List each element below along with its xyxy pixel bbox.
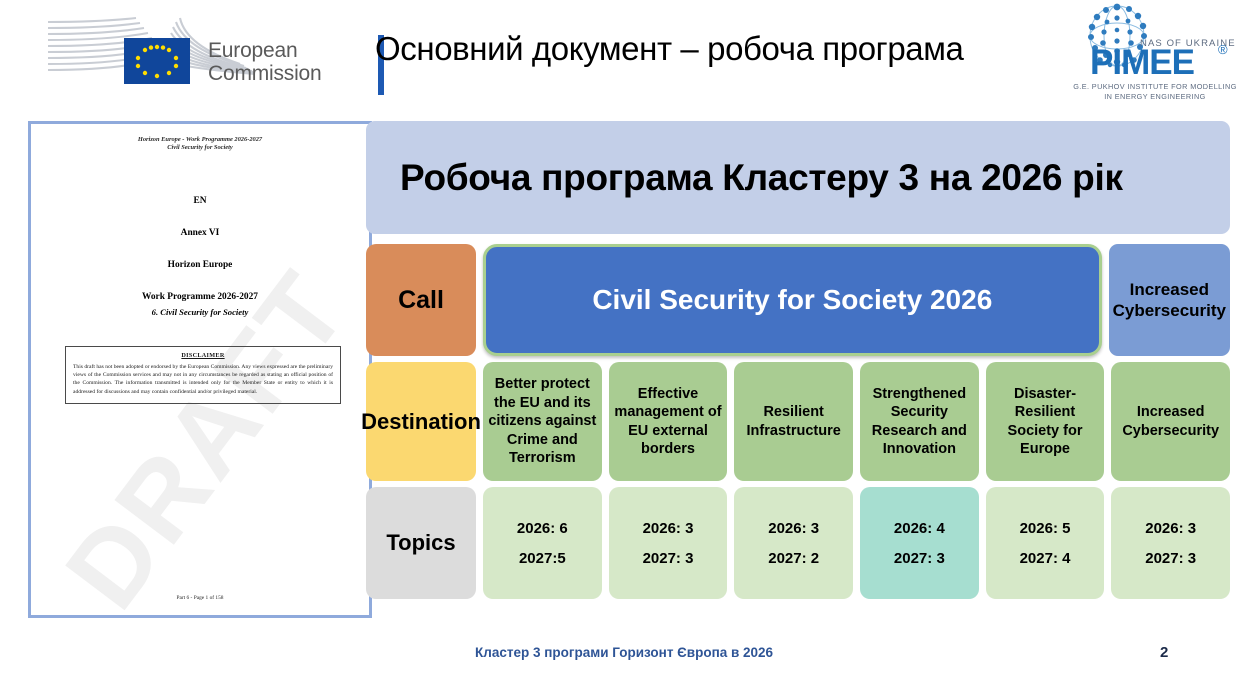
programme-structure-grid: Робоча програма Кластеру 3 на 2026 рік C… <box>366 121 1230 599</box>
slide-footer-text: Кластер 3 програми Горизонт Європа в 202… <box>475 645 773 660</box>
document-section-title: 6. Civil Security for Society <box>31 307 369 317</box>
topics-row-label-text: Topics <box>386 530 455 556</box>
destination-cell-1-text: Better protect the EU and its citizens a… <box>488 375 597 468</box>
call-row: Call Civil Security for Society 2026 Inc… <box>366 244 1230 356</box>
document-header-line2: Civil Security for Society <box>31 144 369 152</box>
destination-row-label: Destination <box>366 362 476 481</box>
grid-banner-text: Робоча програма Кластеру 3 на 2026 рік <box>400 157 1123 199</box>
topics-cell-1[interactable]: 2026: 6 2027:5 <box>483 487 602 599</box>
topics-cell-1-2027: 2027:5 <box>519 550 566 567</box>
pimee-registered-mark: ® <box>1218 42 1228 57</box>
topics-cell-2-2026: 2026: 3 <box>643 520 694 537</box>
topics-cell-4-2026: 2026: 4 <box>894 520 945 537</box>
document-title-block: EN Annex VI Horizon Europe Work Programm… <box>31 196 369 324</box>
destination-cell-6-text: Increased Cybersecurity <box>1116 403 1225 440</box>
call-row-label: Call <box>366 244 476 356</box>
disclaimer-title: DISCLAIMER <box>73 352 333 359</box>
slide-page-number: 2 <box>1160 644 1168 661</box>
document-disclaimer-box: DISCLAIMER This draft has not been adopt… <box>65 346 341 404</box>
call-extra-box[interactable]: Increased Cybersecurity <box>1109 244 1230 356</box>
destination-cell-2[interactable]: Effective management of EU external bord… <box>609 362 728 481</box>
destination-cell-3-text: Resilient Infrastructure <box>739 403 848 440</box>
topics-cell-4-2027: 2027: 3 <box>894 550 945 567</box>
european-commission-logo: European Commission <box>40 16 350 90</box>
eu-stars-icon <box>124 38 190 84</box>
topics-cell-1-2026: 2026: 6 <box>517 520 568 537</box>
topics-cell-5-2027: 2027: 4 <box>1020 550 1071 567</box>
topics-cell-3[interactable]: 2026: 3 2027: 2 <box>734 487 853 599</box>
document-header-line1: Horizon Europe - Work Programme 2026-202… <box>31 136 369 144</box>
topics-cell-3-2026: 2026: 3 <box>768 520 819 537</box>
destination-cell-5-text: Disaster-Resilient Society for Europe <box>991 385 1100 459</box>
pimee-logo: NAS OF UKRAINE PIMEE ® G.E. PUKHOV INSTI… <box>1066 2 1244 104</box>
destination-cell-6[interactable]: Increased Cybersecurity <box>1111 362 1230 481</box>
topics-cell-6[interactable]: 2026: 3 2027: 3 <box>1111 487 1230 599</box>
topics-cell-5[interactable]: 2026: 5 2027: 4 <box>986 487 1105 599</box>
ec-logo-line1: European <box>208 39 322 62</box>
destination-cell-2-text: Effective management of EU external bord… <box>614 385 723 459</box>
page-title: Основний документ – робоча програма <box>375 18 1065 80</box>
call-row-label-text: Call <box>398 286 444 315</box>
document-title-line-2: Annex VI <box>31 228 369 238</box>
destination-row: Destination Better protect the EU and it… <box>366 362 1230 481</box>
call-extra-text: Increased Cybersecurity <box>1113 279 1226 321</box>
pimee-name: PIMEE <box>1090 46 1194 80</box>
eu-flag-icon <box>124 38 190 84</box>
pimee-subtitle: G.E. PUKHOV INSTITUTE FOR MODELLING IN E… <box>1069 82 1241 101</box>
eu-flag-container <box>88 32 190 90</box>
call-main-box[interactable]: Civil Security for Society 2026 <box>483 244 1102 356</box>
topics-cell-5-2026: 2026: 5 <box>1020 520 1071 537</box>
destination-cell-4[interactable]: Strengthened Security Research and Innov… <box>860 362 979 481</box>
slide-header: European Commission Основний документ – … <box>0 0 1250 108</box>
destination-cell-4-text: Strengthened Security Research and Innov… <box>865 385 974 459</box>
document-running-header: Horizon Europe - Work Programme 2026-202… <box>31 136 369 153</box>
topics-cell-4[interactable]: 2026: 4 2027: 3 <box>860 487 979 599</box>
grid-banner: Робоча програма Кластеру 3 на 2026 рік <box>366 121 1230 234</box>
topics-cell-2-2027: 2027: 3 <box>643 550 694 567</box>
topics-row: Topics 2026: 6 2027:5 2026: 3 2027: 3 20… <box>366 487 1230 599</box>
destination-cell-3[interactable]: Resilient Infrastructure <box>734 362 853 481</box>
topics-cell-2[interactable]: 2026: 3 2027: 3 <box>609 487 728 599</box>
destination-cell-5[interactable]: Disaster-Resilient Society for Europe <box>986 362 1105 481</box>
document-title-line-1: EN <box>31 196 369 206</box>
ec-logo-text: European Commission <box>208 39 322 85</box>
document-title-line-4: Work Programme 2026-2027 <box>31 292 369 302</box>
topics-cell-3-2027: 2027: 2 <box>768 550 819 567</box>
topics-row-label: Topics <box>366 487 476 599</box>
document-title-line-3: Horizon Europe <box>31 260 369 270</box>
disclaimer-body: This draft has not been adopted or endor… <box>73 363 333 396</box>
slide-canvas: European Commission Основний документ – … <box>0 0 1250 678</box>
destination-row-label-text: Destination <box>361 408 481 435</box>
call-main-text: Civil Security for Society 2026 <box>592 284 992 316</box>
document-page-footer: Part 6 - Page 1 of 158 <box>31 595 369 601</box>
ec-logo-line2: Commission <box>208 62 322 85</box>
document-thumbnail-panel[interactable]: DRAFT Horizon Europe - Work Programme 20… <box>28 121 372 618</box>
destination-cell-1[interactable]: Better protect the EU and its citizens a… <box>483 362 602 481</box>
topics-cell-6-2027: 2027: 3 <box>1145 550 1196 567</box>
topics-cell-6-2026: 2026: 3 <box>1145 520 1196 537</box>
